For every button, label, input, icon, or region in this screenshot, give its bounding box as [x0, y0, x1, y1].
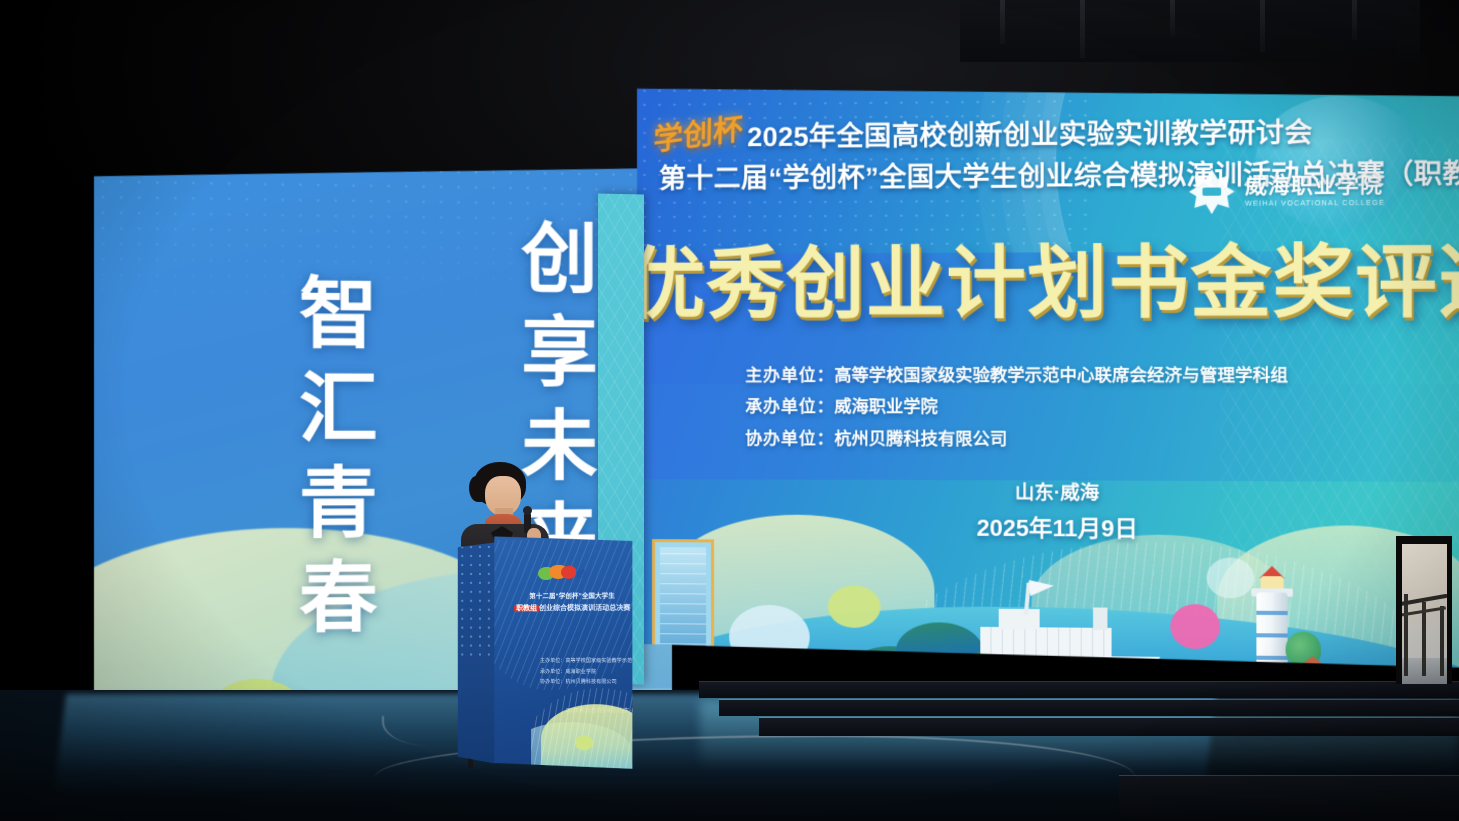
riser-step	[699, 682, 1459, 698]
podium-side-panel	[458, 542, 496, 763]
ceiling-rig	[960, 0, 1420, 62]
xuechuangbei-cup-logo: 学创杯	[653, 103, 743, 159]
exit-doorway	[1396, 536, 1452, 684]
riser-step	[1119, 776, 1459, 821]
organizer-label: 协办单位：	[745, 429, 834, 448]
organizer-row: 主办单位：高等学校国家级实验教学示范中心联席会经济与管理学科组	[745, 360, 1288, 392]
main-title: 优秀创业计划书金奖评选	[637, 218, 1459, 334]
podium-logo: 创	[538, 564, 596, 580]
college-name-en: WEIHAI VOCATIONAL COLLEGE	[1245, 200, 1385, 208]
main-led-screen: 学创杯 2025年全国高校创新创业实验实训教学研讨会 第十二届“学创杯”全国大学…	[637, 76, 1459, 668]
location-text: 山东·威海	[960, 477, 1155, 505]
riser-step	[759, 718, 1459, 736]
organizer-value: 威海职业学院	[834, 398, 938, 417]
header-line-1: 2025年全国高校创新创业实验实训教学研讨会	[747, 110, 1312, 154]
date-text: 2025年11月9日	[960, 508, 1155, 543]
organizer-row: 承办单位：威海职业学院	[745, 392, 1288, 424]
podium-badge: 职教组	[514, 605, 539, 612]
podium-organizer-row: 主办单位：高等学校国家级实验教学示范中心联席会经济与管理学科组	[540, 656, 632, 667]
calligraphy-column-2: 智汇青春	[291, 272, 370, 652]
podium-line-1: 第十二届“学创杯”全国大学生	[516, 592, 628, 602]
organizer-list: 主办单位：高等学校国家级实验教学示范中心联席会经济与管理学科组 承办单位：威海职…	[745, 360, 1288, 456]
podium-logo-text: 创	[576, 567, 585, 580]
location-date-block: 山东·威海 2025年11月9日	[960, 477, 1155, 544]
podium-artwork	[531, 678, 632, 769]
podium-organizer-row: 承办单位：威海职业学院	[540, 666, 632, 677]
riser-step	[719, 700, 1459, 716]
organizer-value: 高等学校国家级实验教学示范中心联席会经济与管理学科组	[834, 366, 1288, 385]
podium-front-panel: 创 第十二届“学创杯”全国大学生 职教组创业综合模拟演训活动总决赛 主办单位：高…	[494, 535, 632, 769]
college-name-cn: 威海职业学院	[1245, 174, 1385, 197]
speaker-podium: 创 第十二届“学创杯”全国大学生 职教组创业综合模拟演训活动总决赛 主办单位：高…	[458, 535, 633, 769]
college-logo: 威海职业学院 WEIHAI VOCATIONAL COLLEGE	[1189, 159, 1429, 224]
stage-photo-scene: 创享未来 智汇青春	[0, 0, 1459, 821]
organizer-label: 承办单位：	[745, 398, 834, 417]
organizer-value: 杭州贝腾科技有限公司	[834, 429, 1007, 449]
podium-line-2: 职教组创业综合模拟演训活动总决赛	[510, 604, 632, 615]
organizer-row: 协办单位：杭州贝腾科技有限公司	[745, 423, 1288, 456]
organizer-label: 主办单位：	[745, 366, 834, 385]
snowflake-icon	[1189, 169, 1235, 214]
podium-line-2-text: 创业综合模拟演训活动总决赛	[539, 605, 630, 612]
